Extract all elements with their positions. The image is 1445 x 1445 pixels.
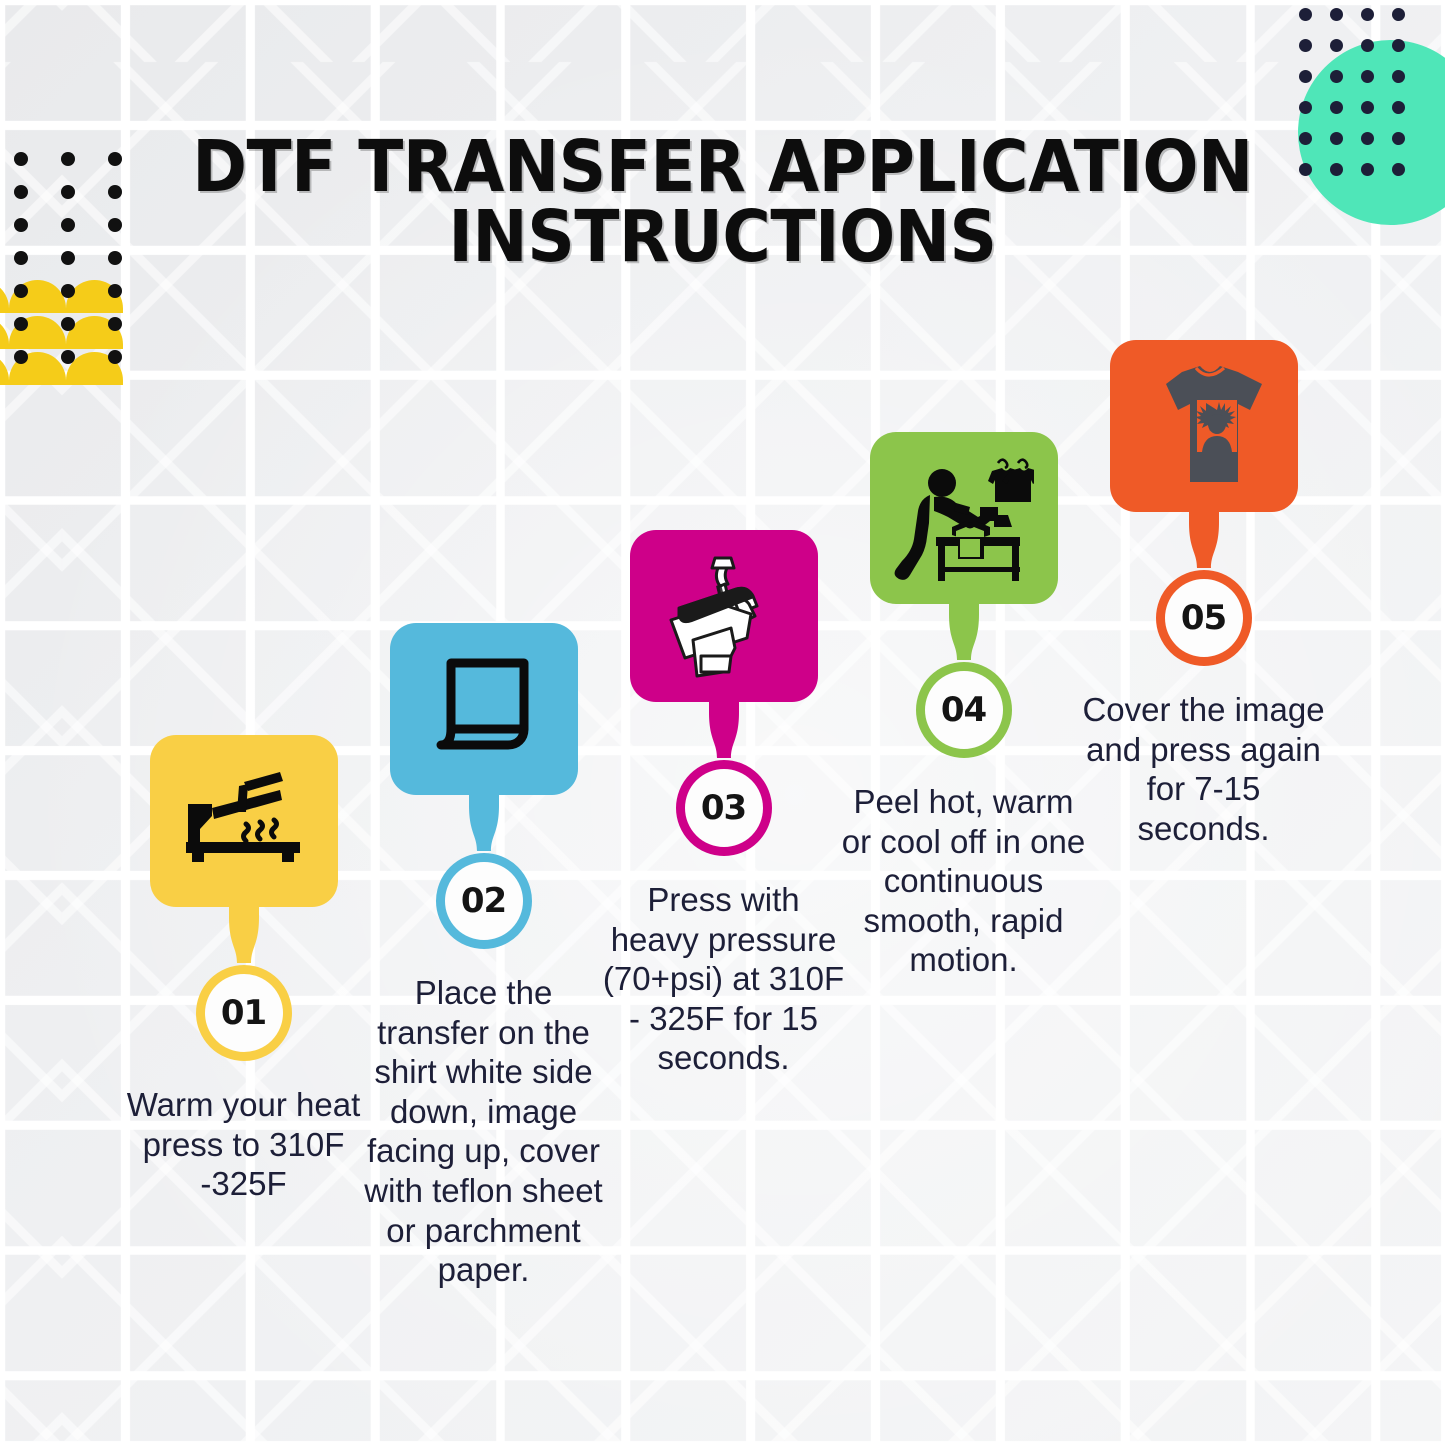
printed-tshirt-icon [1140,364,1268,488]
heat-press-machine-icon [661,554,787,678]
step-05-pin: 05 [1081,340,1326,666]
step-04-number: 04 [941,690,986,730]
step-03-card [630,530,818,702]
step-03-description: Press with heavy pressure (70+psi) at 31… [601,880,846,1078]
step-01-number-badge: 01 [196,965,292,1061]
step-05-description: Cover the image and press again for 7-15… [1081,690,1326,848]
step-02-number: 02 [461,881,506,921]
step-05-number-badge: 05 [1156,570,1252,666]
step-03-number-badge: 03 [676,760,772,856]
step-02-description: Place the transfer on the shirt white si… [361,973,606,1290]
step-03-pin: 03 [601,530,846,856]
step-01-number: 01 [221,993,266,1033]
step-04-connector [949,600,979,664]
step-05-number: 05 [1181,598,1226,638]
step-01[interactable]: 01 Warm your heat press to 310F -325F [121,735,366,1204]
step-02-number-badge: 02 [436,853,532,949]
step-04-description: Peel hot, warm or cool off in one contin… [841,782,1086,980]
step-04[interactable]: 04 Peel hot, warm or cool off in one con… [841,432,1086,980]
step-04-card [870,432,1058,604]
step-02-card [390,623,578,795]
steps-container: 01 Warm your heat press to 310F -325F 02 [0,0,1445,1445]
step-03-number: 03 [701,788,746,828]
heat-press-open-icon [182,772,306,870]
step-01-pin: 01 [121,735,366,1061]
step-03-connector [709,698,739,762]
step-05-connector [1189,508,1219,572]
step-01-description: Warm your heat press to 310F -325F [121,1085,366,1204]
step-01-connector [229,903,259,967]
step-02-pin: 02 [361,623,606,949]
step-05[interactable]: 05 Cover the image and press again for 7… [1081,340,1326,848]
step-02-connector [469,791,499,855]
step-03[interactable]: 03 Press with heavy pressure (70+psi) at… [601,530,846,1078]
step-05-card [1110,340,1298,512]
step-01-card [150,735,338,907]
step-04-pin: 04 [841,432,1086,758]
worker-peeling-icon [894,455,1034,581]
step-02[interactable]: 02 Place the transfer on the shirt white… [361,623,606,1290]
transfer-sheet-icon [429,655,539,763]
step-04-number-badge: 04 [916,662,1012,758]
